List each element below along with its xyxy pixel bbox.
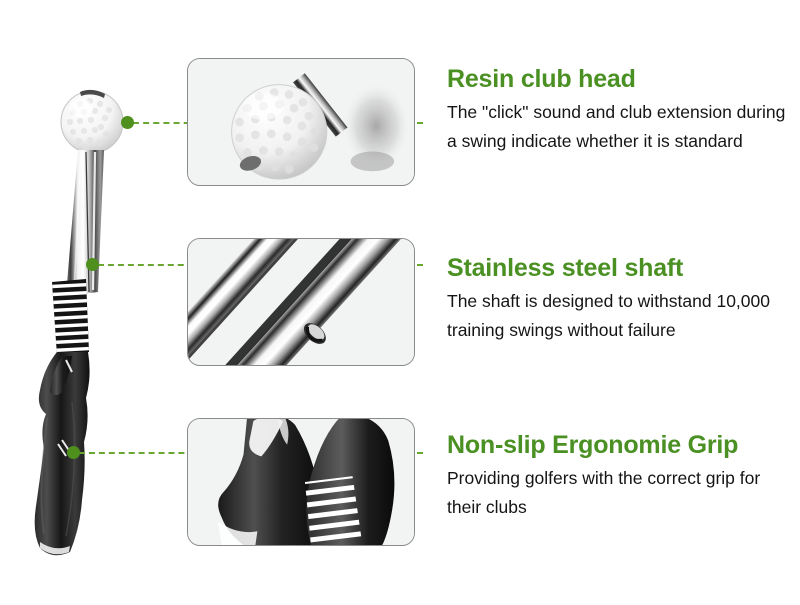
callout-dot-resin-club-head bbox=[121, 116, 134, 129]
golf-ball-head-closeup-photo bbox=[188, 59, 414, 185]
infographic-page: Resin club head The "click" sound and cl… bbox=[0, 0, 800, 600]
golf-trainer-svg bbox=[0, 0, 180, 600]
ball-head-graphic bbox=[61, 90, 123, 153]
feature-panel-stainless-steel-shaft bbox=[187, 238, 415, 366]
feature-title: Non-slip Ergonomie Grip bbox=[447, 430, 795, 460]
upper-shaft-graphic bbox=[66, 150, 104, 296]
feature-description: The shaft is designed to withstand 10,00… bbox=[447, 287, 795, 345]
feature-description: Providing golfers with the correct grip … bbox=[447, 464, 795, 522]
stainless-steel-shaft-closeup-photo bbox=[188, 239, 414, 365]
feature-title: Stainless steel shaft bbox=[447, 253, 795, 283]
ergonomic-grip-closeup-photo bbox=[188, 419, 414, 545]
callout-dot-non-slip-grip bbox=[67, 446, 80, 459]
feature-panel-resin-club-head bbox=[187, 58, 415, 186]
product-illustration bbox=[0, 0, 180, 600]
feature-text-resin-club-head: Resin club head The "click" sound and cl… bbox=[447, 64, 795, 156]
feature-text-stainless-steel-shaft: Stainless steel shaft The shaft is desig… bbox=[447, 253, 795, 345]
feature-text-non-slip-grip: Non-slip Ergonomie Grip Providing golfer… bbox=[447, 430, 795, 522]
feature-title: Resin club head bbox=[447, 64, 795, 94]
feature-panel-non-slip-grip bbox=[187, 418, 415, 546]
feature-description: The "click" sound and club extension dur… bbox=[447, 98, 795, 156]
callout-dot-stainless-steel-shaft bbox=[86, 258, 99, 271]
